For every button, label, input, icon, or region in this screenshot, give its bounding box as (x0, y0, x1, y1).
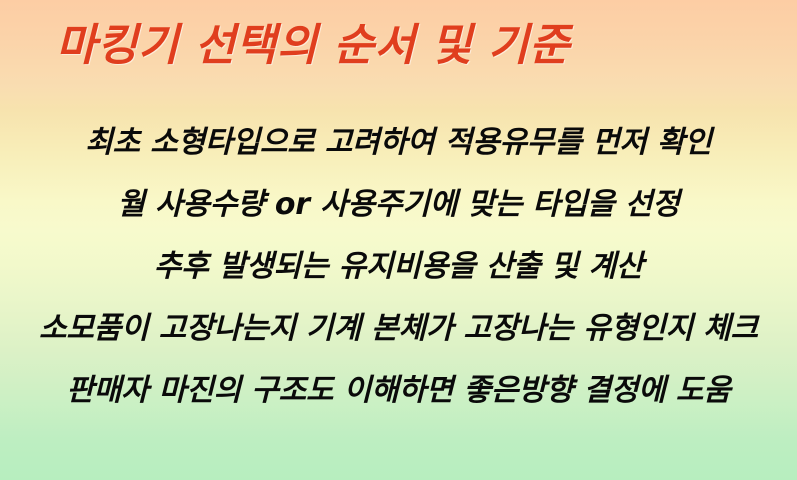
slide-body-line-2: 월 사용수량 or 사용주기에 맞는 타입을 선정 (0, 174, 797, 236)
slide-body-list: 최초 소형타입으로 고려하여 적용유무를 먼저 확인 월 사용수량 or 사용주… (0, 112, 797, 422)
presentation-slide: 마킹기 선택의 순서 및 기준 최초 소형타입으로 고려하여 적용유무를 먼저 … (0, 0, 797, 480)
slide-body-line-4: 소모품이 고장나는지 기계 본체가 고장나는 유형인지 체크 (0, 298, 797, 360)
slide-body-line-3: 추후 발생되는 유지비용을 산출 및 계산 (0, 236, 797, 298)
slide-body-line-5: 판매자 마진의 구조도 이해하면 좋은방향 결정에 도움 (0, 360, 797, 422)
slide-body-line-1: 최초 소형타입으로 고려하여 적용유무를 먼저 확인 (0, 112, 797, 174)
slide-title: 마킹기 선택의 순서 및 기준 (56, 22, 756, 70)
